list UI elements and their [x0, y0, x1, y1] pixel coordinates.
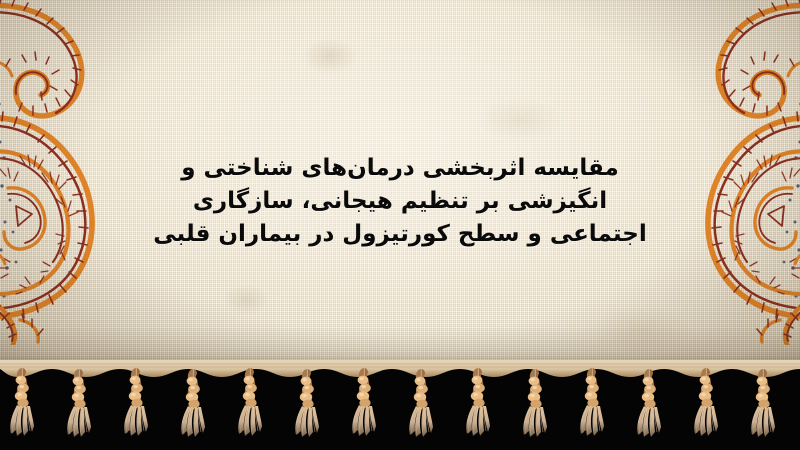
title-line-2: انگیزشی بر تنظیم هیجانی، سازگاری [150, 185, 650, 218]
slide-canvas: مقایسه اثربخشی درمان‌های شناختی و انگیزش… [0, 0, 800, 450]
title-line-3: اجتماعی و سطح کورتیزول در بیماران قلبی [150, 218, 650, 251]
tassel-fringe [0, 360, 800, 450]
title-line-1: مقایسه اثربخشی درمان‌های شناختی و [150, 152, 650, 185]
slide-title: مقایسه اثربخشی درمان‌های شناختی و انگیزش… [150, 152, 650, 251]
